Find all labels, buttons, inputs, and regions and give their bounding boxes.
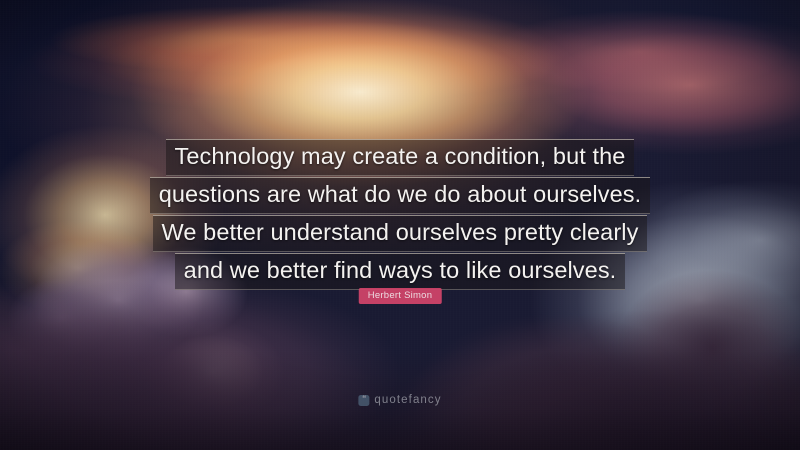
quote-mark-glyph: ❝ bbox=[362, 395, 366, 403]
author-badge: Herbert Simon bbox=[359, 288, 442, 304]
quotefancy-wordmark: quotefancy bbox=[374, 394, 441, 406]
quote-line-1: Technology may create a condition, but t… bbox=[166, 139, 635, 176]
quote-wallpaper: Technology may create a condition, but t… bbox=[0, 0, 800, 450]
quotefancy-watermark: ❝ quotefancy bbox=[358, 394, 441, 406]
quote-line-3: We better understand ourselves pretty cl… bbox=[153, 215, 648, 252]
quote-line-4: and we better find ways to like ourselve… bbox=[175, 253, 626, 290]
quote-text-block: Technology may create a condition, but t… bbox=[0, 139, 800, 291]
quotefancy-logo-icon: ❝ bbox=[358, 395, 369, 406]
quote-line-2: questions are what do we do about oursel… bbox=[150, 177, 651, 214]
